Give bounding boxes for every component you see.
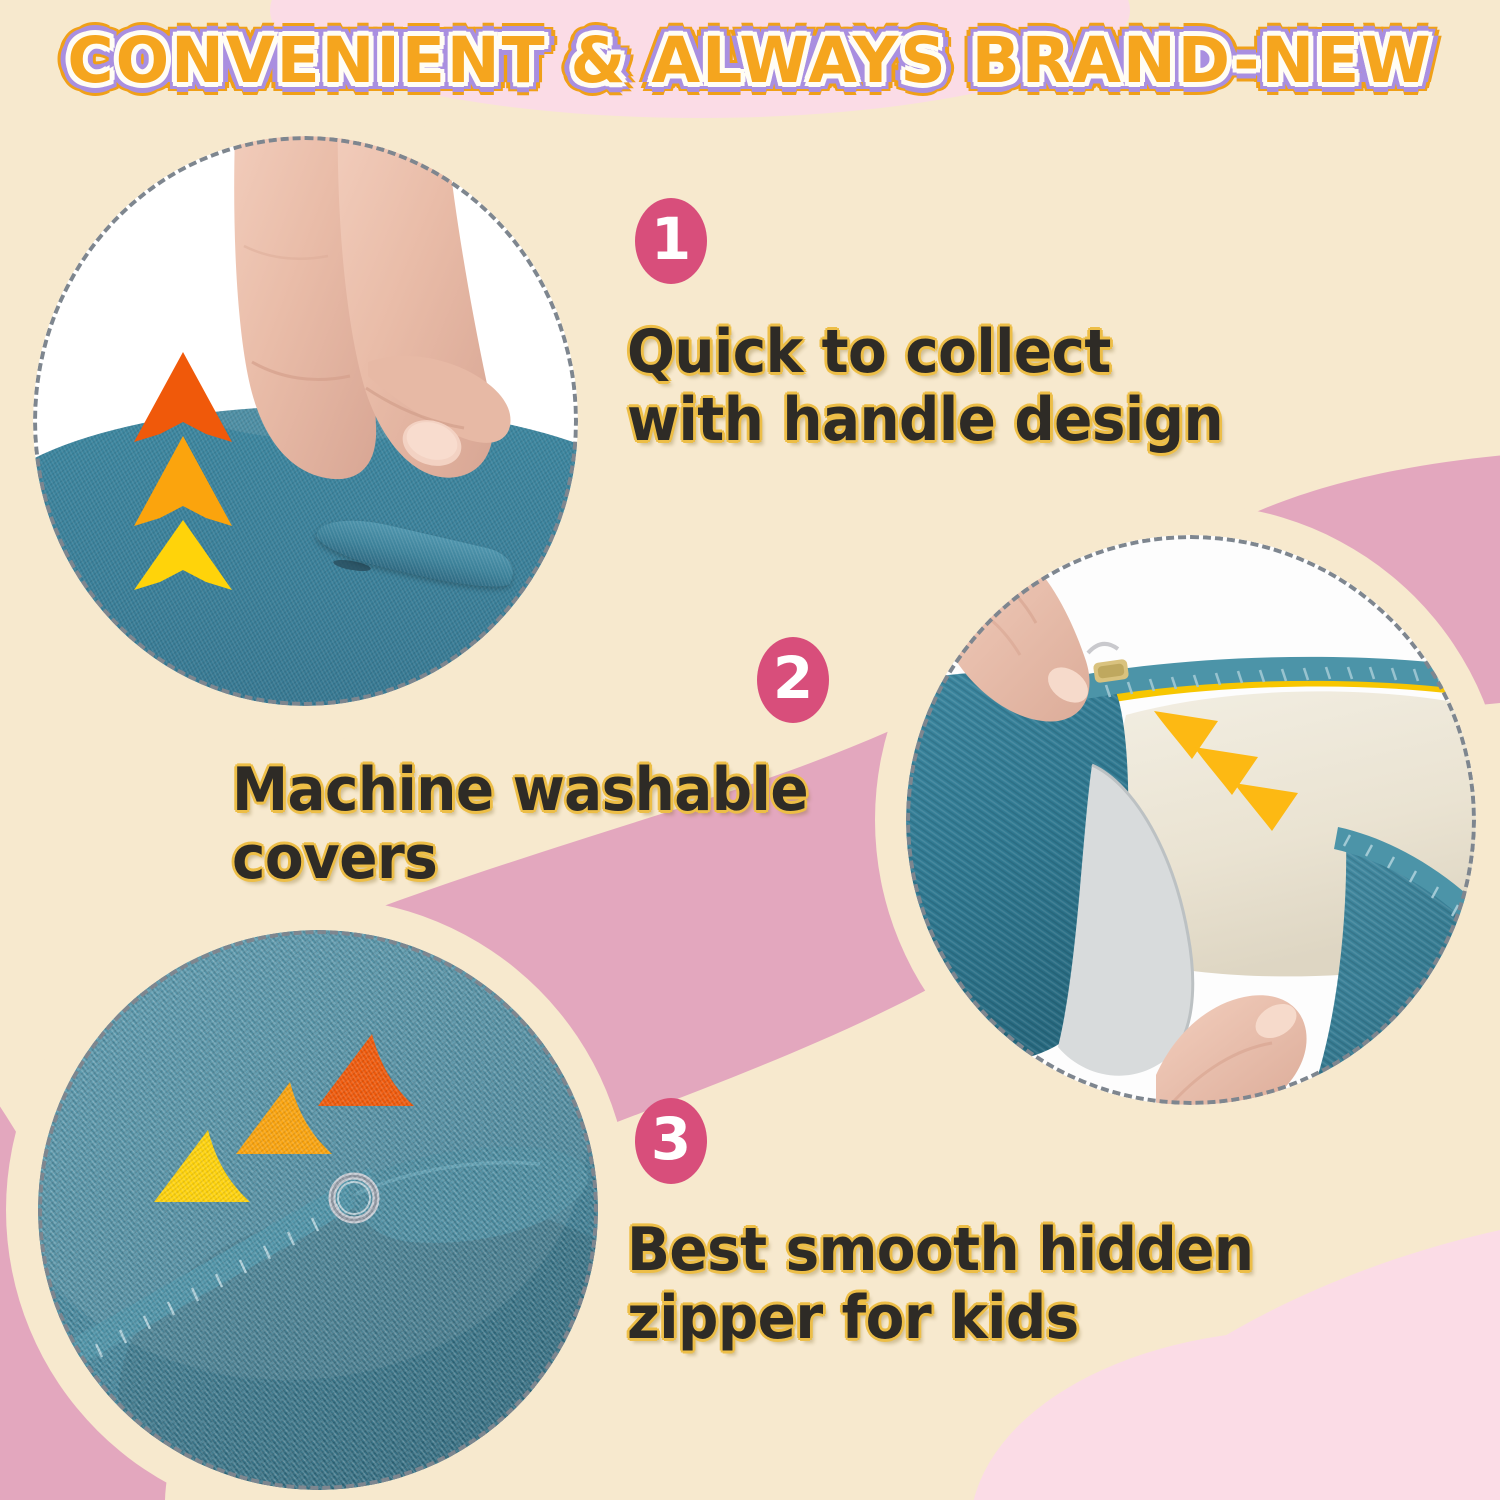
step-number-badge-3: 3: [635, 1098, 707, 1184]
zipper-flap: [348, 1147, 588, 1243]
feature-photo-2: [906, 535, 1476, 1105]
zipper-teeth-3: [48, 1204, 342, 1385]
feature-photo-3: [38, 930, 598, 1490]
feature-heading-2: Machine washable covers: [232, 756, 808, 893]
banner-title: CONVENIENT & ALWAYS BRAND-NEW: [67, 24, 1432, 97]
ascending-triangle-arrows: [154, 1034, 414, 1202]
zipper-ring-pull: [332, 1176, 376, 1220]
feature-heading-1: Quick to collect with handle design: [627, 318, 1223, 455]
chevron-arrow-top: [134, 352, 232, 442]
triangle-arrow-mid: [236, 1082, 332, 1154]
banner: CONVENIENT & ALWAYS BRAND-NEW: [0, 14, 1500, 106]
step-number-badge-1: 1: [635, 198, 707, 284]
hand-illustration: [218, 136, 518, 576]
step-number-2: 2: [773, 649, 813, 707]
step-number-1: 1: [651, 210, 691, 268]
feature-heading-3: Best smooth hidden zipper for kids: [627, 1216, 1253, 1353]
step-number-3: 3: [651, 1110, 691, 1168]
feature-photo-2-image: [906, 535, 1476, 1105]
zipper-tape: [38, 1168, 382, 1394]
triangle-arrow-low: [154, 1130, 250, 1202]
zipper-seam-line: [38, 1178, 368, 1380]
feature-photo-3-image: [38, 930, 598, 1490]
product-feature-infographic: CONVENIENT & ALWAYS BRAND-NEW: [0, 0, 1500, 1500]
chevron-arrow-bottom: [134, 520, 232, 590]
step-number-badge-2: 2: [757, 637, 829, 723]
up-chevron-arrows: [128, 348, 238, 593]
triangle-arrow-high: [318, 1034, 414, 1106]
chevron-arrow-middle: [134, 436, 232, 526]
feature-photo-1-image: [33, 136, 578, 706]
feature-photo-1: [33, 136, 578, 706]
